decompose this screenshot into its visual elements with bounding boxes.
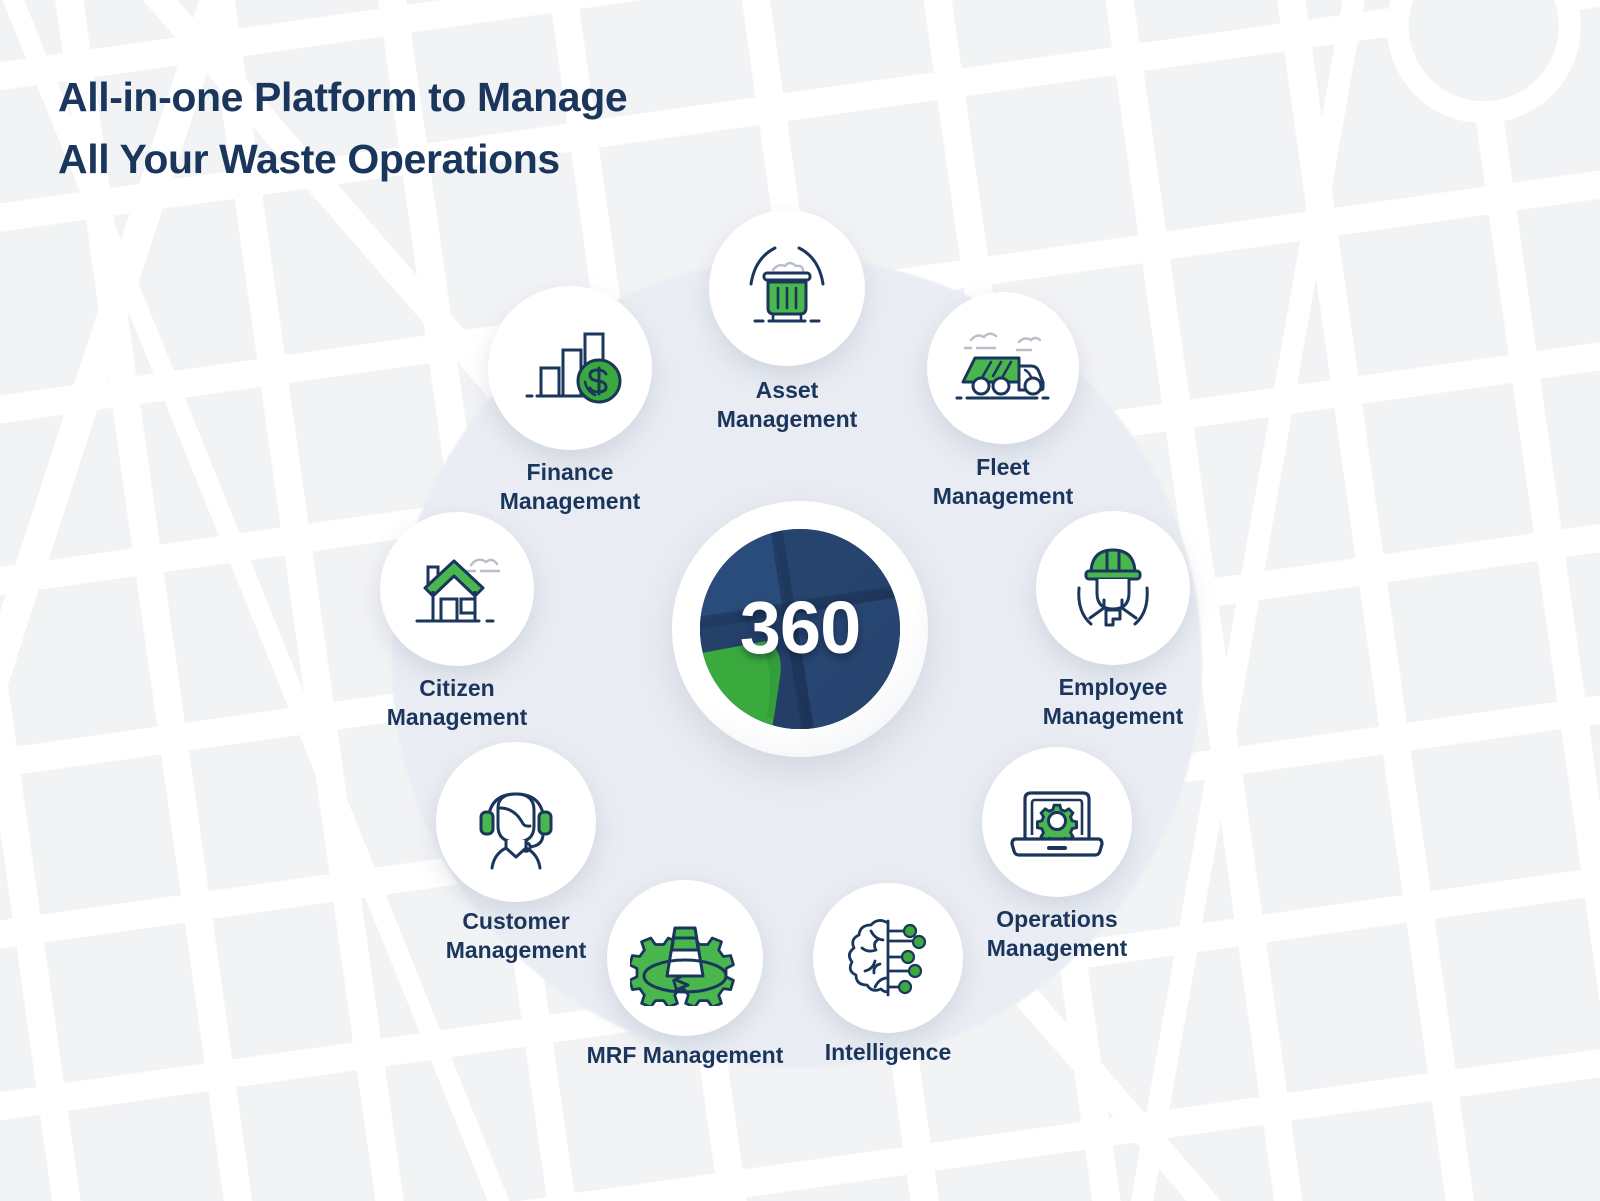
map-block xyxy=(1291,1101,1451,1201)
map-block xyxy=(1362,382,1534,554)
map-block xyxy=(946,0,1112,68)
asset-management-bubble[interactable] xyxy=(709,210,865,366)
map-block xyxy=(1266,922,1428,1092)
dumpster-icon xyxy=(735,242,839,334)
hardhat-worker-icon xyxy=(1061,538,1165,638)
infographic-canvas: All-in-one Platform to Manage All Your W… xyxy=(0,0,1600,1201)
map-block xyxy=(1124,0,1280,43)
map-block xyxy=(1540,359,1600,529)
operations-management-bubble[interactable] xyxy=(982,747,1132,897)
finance-management-label: Finance Management xyxy=(420,458,720,516)
map-block xyxy=(1589,705,1600,865)
laptop-gear-icon xyxy=(1004,777,1110,867)
map-circle-icon xyxy=(700,529,900,729)
map-block xyxy=(1565,537,1600,697)
map-block xyxy=(965,75,1138,257)
fleet-management-label: Fleet Management xyxy=(853,453,1153,511)
garbage-truck-icon xyxy=(949,324,1057,412)
map-block xyxy=(1338,214,1508,376)
map-block xyxy=(935,1149,1105,1201)
page-title: All-in-one Platform to Manage All Your W… xyxy=(58,66,678,191)
asset-management-label: Asset Management xyxy=(637,376,937,434)
finance-management-bubble[interactable] xyxy=(488,286,652,450)
hub-360: 360 xyxy=(672,501,928,757)
map-block xyxy=(768,0,934,93)
map-block xyxy=(0,778,13,938)
map-block xyxy=(0,946,36,1106)
fleet-management-bubble[interactable] xyxy=(927,292,1079,444)
map-block xyxy=(44,922,204,1082)
map-block xyxy=(1434,897,1600,1069)
map-block xyxy=(1242,754,1402,914)
map-block xyxy=(213,902,354,1060)
headset-agent-icon xyxy=(464,772,568,872)
map-block xyxy=(223,0,379,28)
map-block xyxy=(392,0,548,5)
citizen-management-bubble[interactable] xyxy=(380,512,534,666)
map-block xyxy=(236,1070,378,1201)
brain-circuit-icon xyxy=(838,909,938,1007)
customer-management-label: Customer Management xyxy=(366,907,666,965)
map-block xyxy=(746,1174,926,1201)
mrf-management-label: MRF Management xyxy=(535,1041,835,1070)
employee-management-label: Employee Management xyxy=(963,673,1263,731)
map-block xyxy=(68,1091,230,1201)
intelligence-bubble[interactable] xyxy=(813,883,963,1033)
map-block xyxy=(1411,729,1581,891)
map-block xyxy=(1387,561,1557,723)
citizen-management-label: Citizen Management xyxy=(307,674,607,732)
map-block xyxy=(1459,1076,1600,1201)
employee-management-bubble[interactable] xyxy=(1036,511,1190,665)
customer-management-bubble[interactable] xyxy=(436,742,596,902)
map-block xyxy=(1517,190,1600,350)
map-block xyxy=(1144,51,1307,231)
map-block xyxy=(0,1114,61,1201)
house-icon xyxy=(401,543,513,635)
bar-chart-dollar-icon xyxy=(515,322,625,414)
map-block xyxy=(21,754,181,914)
